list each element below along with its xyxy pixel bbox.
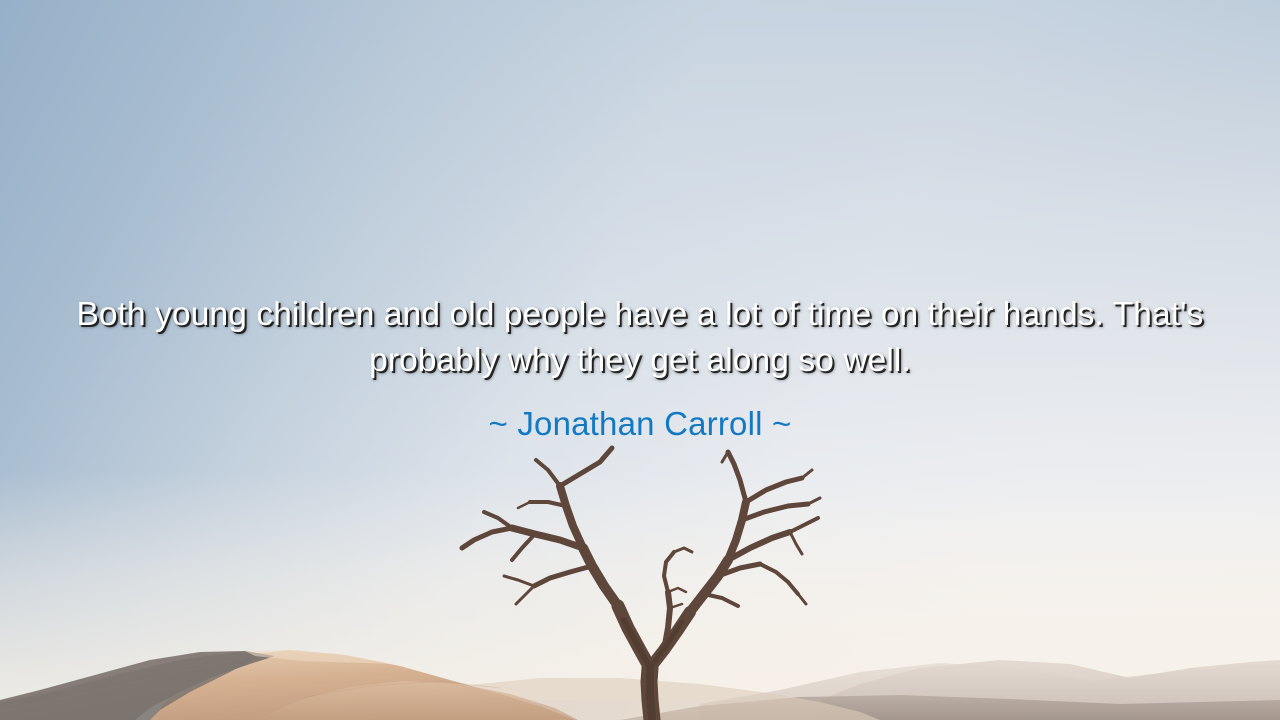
quote-author: ~ Jonathan Carroll ~ bbox=[60, 404, 1220, 444]
quote-overlay: Both young children and old people have … bbox=[0, 292, 1280, 444]
quote-image: Both young children and old people have … bbox=[0, 0, 1280, 720]
quote-text: Both young children and old people have … bbox=[70, 292, 1210, 384]
